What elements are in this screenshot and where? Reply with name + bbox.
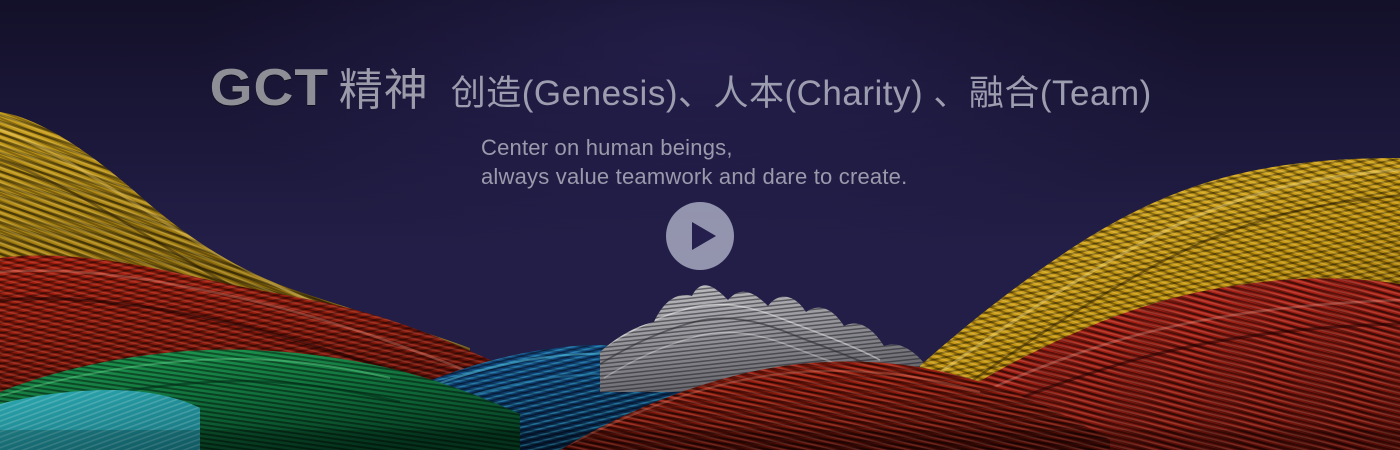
subtitle-line-1: Center on human beings,: [481, 133, 1152, 162]
brand-subtitle-cn: 精神: [339, 69, 429, 113]
hero-banner: GCT 精神 创造(Genesis)、人本(Charity) 、融合(Team)…: [0, 0, 1400, 450]
play-triangle-icon: [692, 222, 716, 250]
play-video-button[interactable]: [666, 202, 734, 270]
subtitle-line-2: always value teamwork and dare to create…: [481, 162, 1152, 191]
subtitle-block: Center on human beings, always value tea…: [481, 133, 1152, 192]
slogan-cn: 创造(Genesis)、人本(Charity) 、融合(Team): [451, 76, 1152, 111]
banner-copy: GCT 精神 创造(Genesis)、人本(Charity) 、融合(Team)…: [213, 62, 1152, 192]
brand-logo-text: GCT: [210, 62, 330, 114]
headline-row: GCT 精神 创造(Genesis)、人本(Charity) 、融合(Team): [213, 62, 1152, 114]
